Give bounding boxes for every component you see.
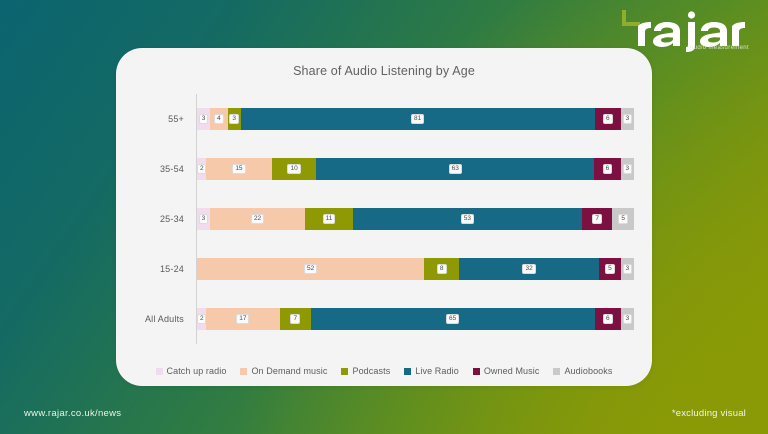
bar-value-label: 52 [304,264,317,275]
footer-note: *excluding visual [672,408,746,419]
bar-value-label: 8 [437,264,447,275]
bar-segment-podcasts[interactable]: 3 [228,108,241,130]
legend-swatch-icon [156,368,163,375]
bar-value-label: 22 [251,214,264,225]
bar-value-label: 4 [214,114,224,125]
legend-label: Podcasts [352,366,390,376]
footer-url[interactable]: www.rajar.co.uk/news [24,408,121,419]
legend-label: Catch up radio [167,366,227,376]
legend-item[interactable]: On Demand music [240,366,327,376]
bar-value-label: 3 [199,114,209,125]
bar-value-label: 2 [197,164,206,175]
bar-segment-on-demand-music[interactable]: 17 [206,308,280,330]
bar-segment-audiobooks[interactable]: 3 [621,308,634,330]
bar-segment-catch-up-radio[interactable]: 3 [197,108,210,130]
plot-area: 55+343816335-5421510636325-3432211537515… [138,94,634,344]
bar-segment-podcasts[interactable]: 11 [305,208,353,230]
legend-item[interactable]: Podcasts [341,366,390,376]
bar-row: 15-245283253 [138,247,634,291]
bar-value-label: 15 [232,164,245,175]
bar-row: 35-54215106363 [138,147,634,191]
bar-segment-on-demand-music[interactable]: 4 [210,108,227,130]
bar-segment-audiobooks[interactable]: 3 [621,258,634,280]
bar-value-label: 3 [623,114,633,125]
legend-label: Live Radio [415,366,459,376]
y-axis-label: 35-54 [138,164,190,174]
legend-swatch-icon [553,368,560,375]
bar-value-label: 10 [287,164,300,175]
bar-value-label: 11 [323,214,336,225]
bar-value-label: 7 [290,314,300,325]
bar-value-label: 3 [229,114,239,125]
bar-value-label: 6 [603,114,613,125]
bar-segment-live-radio[interactable]: 53 [353,208,582,230]
legend-item[interactable]: Live Radio [404,366,459,376]
bar-segment-on-demand-music[interactable]: 52 [197,258,424,280]
bar-segment-live-radio[interactable]: 63 [316,158,594,180]
bar-segment-audiobooks[interactable]: 3 [621,158,634,180]
bar-value-label: 32 [522,264,535,275]
bar-segment-audiobooks[interactable]: 3 [621,108,634,130]
bar-value-label: 6 [603,164,613,175]
chart-title: Share of Audio Listening by Age [116,48,652,78]
bar-value-label: 53 [461,214,474,225]
bar-value-label: 3 [199,214,209,225]
bar-segment-audiobooks[interactable]: 5 [612,208,634,230]
bar-value-label: 3 [623,264,633,275]
bar-segment-owned-music[interactable]: 5 [599,258,621,280]
bar-segment-live-radio[interactable]: 65 [311,308,595,330]
bar-row: 55+3438163 [138,97,634,141]
bar-segment-podcasts[interactable]: 8 [424,258,459,280]
bar-value-label: 2 [197,314,206,325]
bar-value-label: 65 [446,314,459,325]
logo-tagline: Audio measurement [689,45,749,51]
legend-swatch-icon [473,368,480,375]
bar-segment-on-demand-music[interactable]: 15 [206,158,272,180]
bar-segment-on-demand-music[interactable]: 22 [210,208,305,230]
bar-value-label: 17 [236,314,249,325]
y-axis-label: 25-34 [138,214,190,224]
bar-segment-catch-up-radio[interactable]: 3 [197,208,210,230]
y-axis-label: All Adults [138,314,190,324]
stacked-bar: 3438163 [197,108,634,130]
rajar-logo: Audio measurement [604,6,754,52]
legend-swatch-icon [404,368,411,375]
bar-value-label: 5 [605,264,615,275]
bar-value-label: 6 [603,314,613,325]
legend-item[interactable]: Catch up radio [156,366,227,376]
legend-swatch-icon [341,368,348,375]
bar-row: 25-34322115375 [138,197,634,241]
legend-item[interactable]: Audiobooks [553,366,612,376]
legend-label: Owned Music [484,366,540,376]
bar-value-label: 3 [623,164,633,175]
bar-value-label: 5 [618,214,628,225]
bar-segment-owned-music[interactable]: 6 [594,158,620,180]
bar-segment-live-radio[interactable]: 32 [459,258,599,280]
y-axis-label: 55+ [138,114,190,124]
bar-value-label: 3 [623,314,633,325]
bar-segment-owned-music[interactable]: 6 [595,308,621,330]
bar-segment-podcasts[interactable]: 10 [272,158,316,180]
stacked-bar: 5283253 [197,258,634,280]
stacked-bar: 215106363 [197,158,634,180]
stacked-bar: 322115375 [197,208,634,230]
bar-value-label: 81 [411,114,424,125]
chart-legend: Catch up radioOn Demand musicPodcastsLiv… [116,366,652,376]
bar-segment-owned-music[interactable]: 7 [582,208,612,230]
bar-segment-live-radio[interactable]: 81 [241,108,595,130]
stacked-bar: 21776563 [197,308,634,330]
legend-item[interactable]: Owned Music [473,366,540,376]
bar-segment-catch-up-radio[interactable]: 2 [197,308,206,330]
y-axis-label: 15-24 [138,264,190,274]
bar-row: All Adults21776563 [138,297,634,341]
legend-swatch-icon [240,368,247,375]
bar-segment-owned-music[interactable]: 6 [595,108,621,130]
bar-value-label: 7 [592,214,602,225]
chart-card: Share of Audio Listening by Age 55+34381… [116,48,652,386]
bar-segment-podcasts[interactable]: 7 [280,308,311,330]
legend-label: On Demand music [251,366,327,376]
bar-segment-catch-up-radio[interactable]: 2 [197,158,206,180]
legend-label: Audiobooks [564,366,612,376]
bar-value-label: 63 [449,164,462,175]
